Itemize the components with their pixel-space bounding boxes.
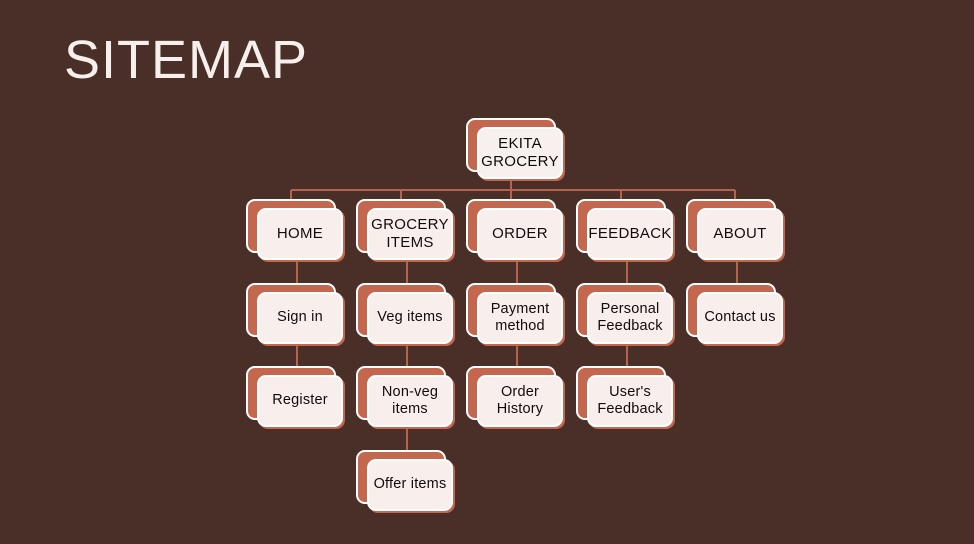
node-grocery-items[interactable]: GROCERY ITEMS [356, 199, 454, 261]
node-label: GROCERY ITEMS [368, 216, 452, 251]
node-front-plate: Payment method [477, 292, 563, 344]
node-label: Register [269, 392, 331, 409]
node-front-plate: ABOUT [697, 208, 783, 260]
node-order-history[interactable]: Order History [466, 366, 564, 428]
node-front-plate: User's Feedback [587, 375, 673, 427]
node-label: Payment method [488, 301, 553, 335]
node-sign-in[interactable]: Sign in [246, 283, 344, 345]
node-front-plate: ORDER [477, 208, 563, 260]
page-title: SITEMAP [64, 33, 308, 87]
node-order[interactable]: ORDER [466, 199, 564, 261]
node-front-plate: Contact us [697, 292, 783, 344]
node-label: Sign in [274, 309, 326, 326]
node-front-plate: HOME [257, 208, 343, 260]
node-label: ABOUT [710, 225, 769, 243]
node-veg-items[interactable]: Veg items [356, 283, 454, 345]
node-label: User's Feedback [594, 384, 665, 418]
node-front-plate: Non-veg items [367, 375, 453, 427]
node-contact-us[interactable]: Contact us [686, 283, 784, 345]
node-home[interactable]: HOME [246, 199, 344, 261]
node-front-plate: Veg items [367, 292, 453, 344]
node-label: Non-veg items [379, 384, 441, 418]
node-feedback[interactable]: FEEDBACK [576, 199, 674, 261]
node-offer-items[interactable]: Offer items [356, 450, 454, 512]
node-front-plate: FEEDBACK [587, 208, 673, 260]
node-front-plate: Order History [477, 375, 563, 427]
sitemap-canvas: SITEMAP [0, 0, 974, 544]
node-ekita-grocery[interactable]: EKITA GROCERY [466, 118, 564, 180]
node-personal-feedback[interactable]: Personal Feedback [576, 283, 674, 345]
node-users-feedback[interactable]: User's Feedback [576, 366, 674, 428]
node-label: Offer items [371, 476, 450, 493]
node-label: Contact us [701, 309, 778, 326]
node-label: Personal Feedback [594, 301, 665, 335]
node-front-plate: EKITA GROCERY [477, 127, 563, 179]
node-front-plate: GROCERY ITEMS [367, 208, 453, 260]
node-front-plate: Sign in [257, 292, 343, 344]
node-label: ORDER [489, 225, 551, 243]
node-label: HOME [274, 225, 326, 243]
node-label: Veg items [374, 309, 445, 326]
node-non-veg-items[interactable]: Non-veg items [356, 366, 454, 428]
node-payment-method[interactable]: Payment method [466, 283, 564, 345]
node-front-plate: Register [257, 375, 343, 427]
node-front-plate: Personal Feedback [587, 292, 673, 344]
node-label: EKITA GROCERY [478, 135, 562, 170]
node-label: Order History [494, 384, 547, 418]
node-front-plate: Offer items [367, 459, 453, 511]
node-about[interactable]: ABOUT [686, 199, 784, 261]
node-register[interactable]: Register [246, 366, 344, 428]
node-label: FEEDBACK [585, 225, 674, 243]
